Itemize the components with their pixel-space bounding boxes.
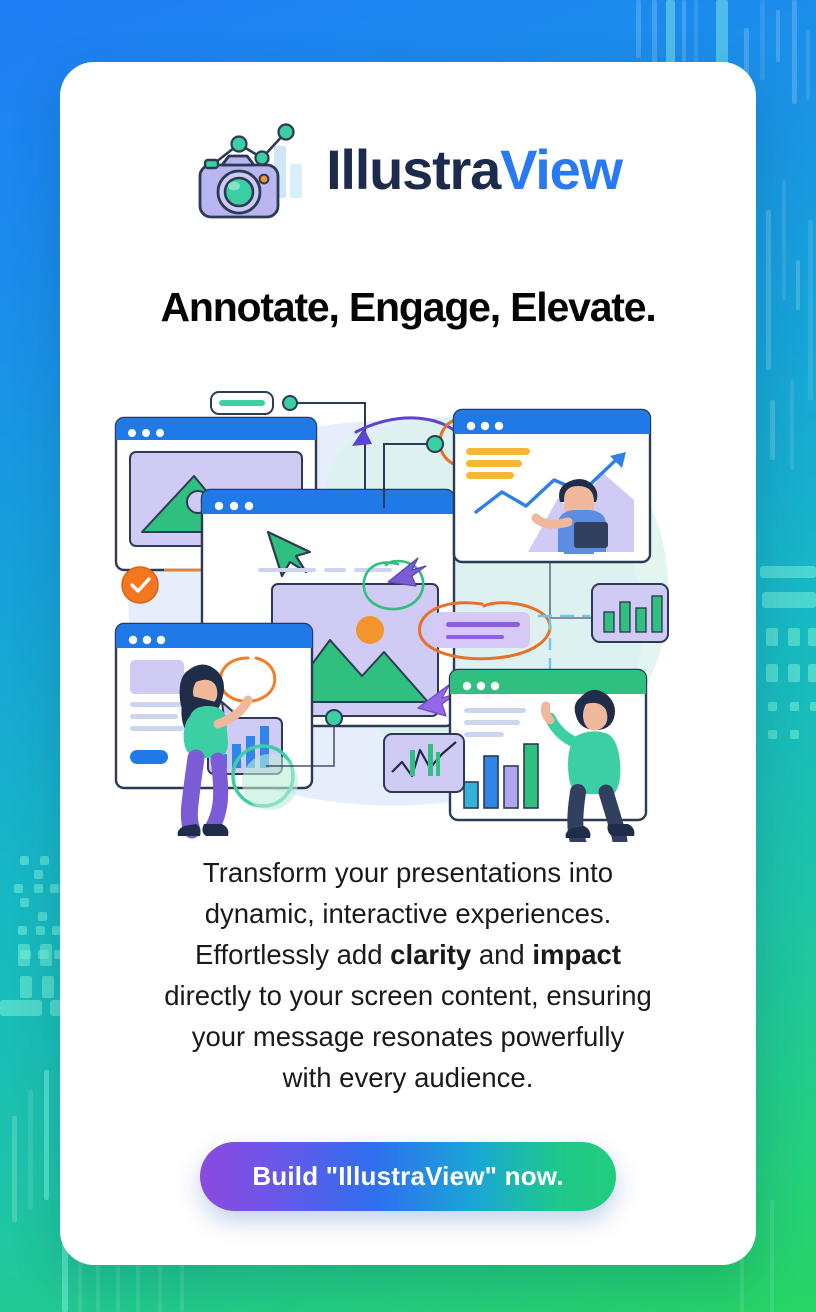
brand-name: IllustraView bbox=[326, 142, 622, 198]
body-emphasis-impact: impact bbox=[532, 939, 621, 970]
body-emphasis-clarity: clarity bbox=[390, 939, 471, 970]
camera-chart-icon bbox=[194, 118, 310, 222]
body-line-3a: Effortlessly add bbox=[195, 939, 390, 970]
poster-page: IllustraView Annotate, Engage, Elevate. bbox=[0, 0, 816, 1312]
page-title: Annotate, Engage, Elevate. bbox=[60, 284, 756, 331]
body-line-5: your message resonates powerfully bbox=[192, 1021, 625, 1052]
body-copy: Transform your presentations into dynami… bbox=[88, 852, 728, 1098]
build-now-button[interactable]: Build "IllustraView" now. bbox=[200, 1142, 615, 1211]
cta-container: Build "IllustraView" now. bbox=[60, 1142, 756, 1211]
promo-card: IllustraView Annotate, Engage, Elevate. bbox=[60, 62, 756, 1265]
body-line-1: Transform your presentations into bbox=[203, 857, 613, 888]
body-line-2: dynamic, interactive experiences. bbox=[205, 898, 612, 929]
brand-logo: IllustraView bbox=[60, 118, 756, 222]
body-line-4: directly to your screen content, ensurin… bbox=[164, 980, 652, 1011]
brand-name-primary: Illustra bbox=[326, 138, 500, 201]
body-line-6: with every audience. bbox=[283, 1062, 534, 1093]
brand-name-secondary: View bbox=[500, 138, 622, 201]
body-line-3b: and bbox=[471, 939, 532, 970]
screen-annotation-illustration bbox=[98, 372, 718, 842]
